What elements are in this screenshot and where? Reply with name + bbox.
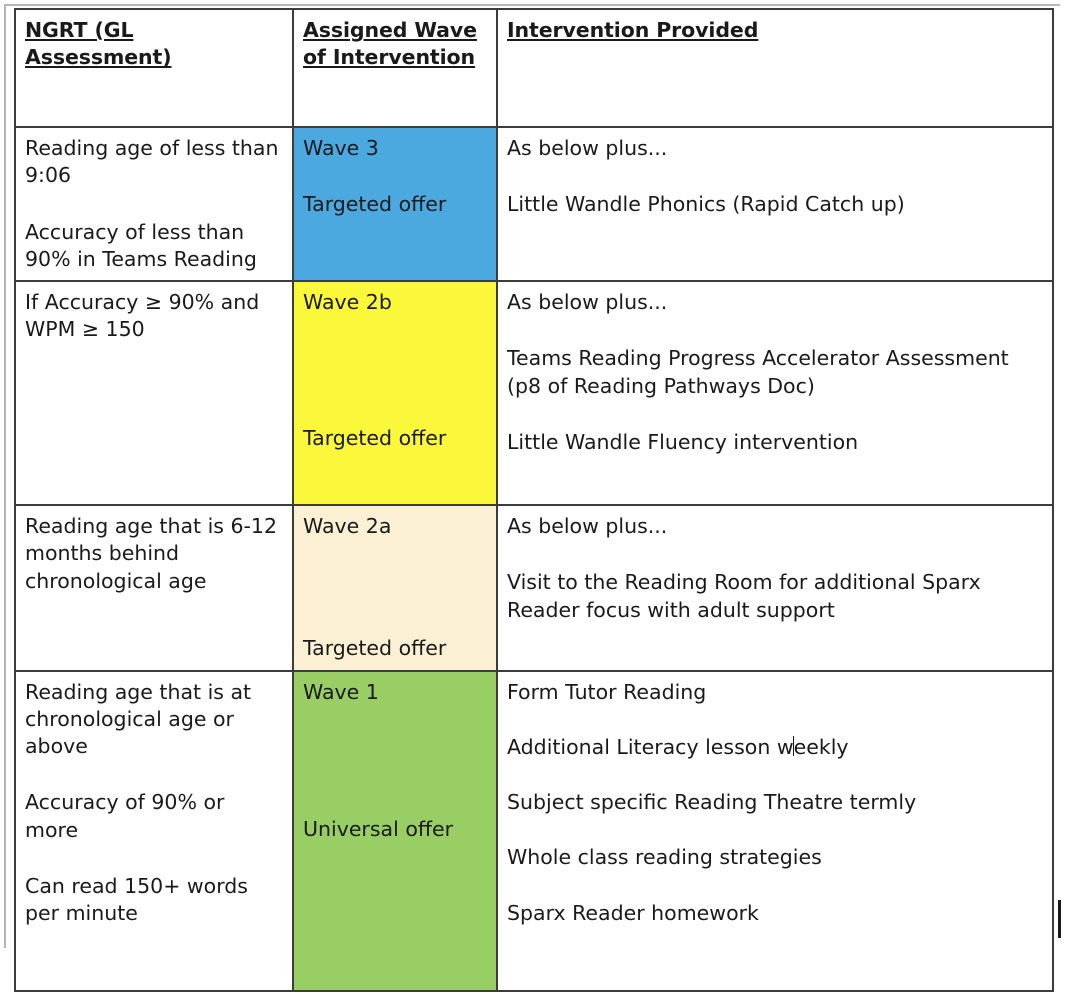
criteria-cell-wave-2b: If Accuracy ≥ 90% and WPM ≥ 150 <box>15 281 293 505</box>
wave-cell-wave-3: Wave 3 Targeted offer <box>293 127 497 281</box>
intervention-text-before-caret: Additional Literacy lesson w <box>507 735 794 759</box>
intervention-line: Whole class reading strategies <box>507 844 1043 871</box>
criteria-line: Accuracy of 90% or more <box>25 789 283 844</box>
intervention-line: As below plus... <box>507 513 1043 540</box>
wave-cell-wave-2b: Wave 2b Targeted offer <box>293 281 497 505</box>
intervention-line: Sparx Reader homework <box>507 900 1043 927</box>
criteria-cell-wave-1: Reading age that is at chronological age… <box>15 671 293 991</box>
criteria-line: Reading age that is at chronological age… <box>25 679 283 761</box>
offer-label: Targeted offer <box>303 635 487 662</box>
intervention-line-with-caret: Additional Literacy lesson weekly <box>507 734 1043 761</box>
header-ngrt-line1: NGRT (GL Assessment) <box>25 18 172 69</box>
table-row: If Accuracy ≥ 90% and WPM ≥ 150 Wave 2b … <box>15 281 1053 505</box>
table-row: Reading age that is at chronological age… <box>15 671 1053 991</box>
criteria-line: Can read 150+ words per minute <box>25 873 283 928</box>
offer-label: Universal offer <box>303 816 487 843</box>
intervention-line: Teams Reading Progress Accelerator Asses… <box>507 345 1043 400</box>
intervention-waves-table: NGRT (GL Assessment) Assigned Wave of In… <box>14 8 1054 992</box>
criteria-line: If Accuracy ≥ 90% and WPM ≥ 150 <box>25 289 283 344</box>
wave-cell-wave-2a: Wave 2a Targeted offer <box>293 505 497 671</box>
text-caret-margin <box>1058 900 1061 938</box>
table-row: Reading age that is 6-12 months behind c… <box>15 505 1053 671</box>
intervention-cell-wave-2a: As below plus... Visit to the Reading Ro… <box>497 505 1053 671</box>
intervention-line: Little Wandle Fluency intervention <box>507 429 1043 456</box>
criteria-line: Reading age of less than 9:06 <box>25 135 283 190</box>
wave-label: Wave 1 <box>303 679 487 706</box>
wave-label: Wave 2b <box>303 289 487 316</box>
intervention-cell-wave-3: As below plus... Little Wandle Phonics (… <box>497 127 1053 281</box>
intervention-line: As below plus... <box>507 289 1043 316</box>
criteria-cell-wave-3: Reading age of less than 9:06 Accuracy o… <box>15 127 293 281</box>
wave-cell-wave-1: Wave 1 Universal offer <box>293 671 497 991</box>
intervention-cell-wave-2b: As below plus... Teams Reading Progress … <box>497 281 1053 505</box>
header-cell-intervention: Intervention Provided <box>497 9 1053 127</box>
wave-label: Wave 2a <box>303 513 487 540</box>
criteria-line: Accuracy of less than 90% in Teams Readi… <box>25 219 283 274</box>
header-wave-line1: Assigned Wave <box>303 17 487 44</box>
intervention-line: Little Wandle Phonics (Rapid Catch up) <box>507 191 1043 218</box>
intervention-line: Subject specific Reading Theatre termly <box>507 789 1043 816</box>
header-cell-assigned-wave: Assigned Wave of Intervention <box>293 9 497 127</box>
criteria-cell-wave-2a: Reading age that is 6-12 months behind c… <box>15 505 293 671</box>
intervention-line: Visit to the Reading Room for additional… <box>507 569 1043 624</box>
header-wave-line2: of Intervention <box>303 44 487 71</box>
header-cell-ngrt: NGRT (GL Assessment) <box>15 9 293 127</box>
table-row: Reading age of less than 9:06 Accuracy o… <box>15 127 1053 281</box>
intervention-text-after-caret: eekly <box>794 735 849 759</box>
intervention-cell-wave-1: Form Tutor Reading Additional Literacy l… <box>497 671 1053 991</box>
header-intervention-line1: Intervention Provided <box>507 18 758 42</box>
offer-label: Targeted offer <box>303 191 487 218</box>
intervention-line: As below plus... <box>507 135 1043 162</box>
table-header-row: NGRT (GL Assessment) Assigned Wave of In… <box>15 9 1053 127</box>
wave-label: Wave 3 <box>303 135 487 162</box>
offer-label: Targeted offer <box>303 425 487 452</box>
criteria-line: Reading age that is 6-12 months behind c… <box>25 513 283 595</box>
intervention-line: Form Tutor Reading <box>507 679 1043 706</box>
